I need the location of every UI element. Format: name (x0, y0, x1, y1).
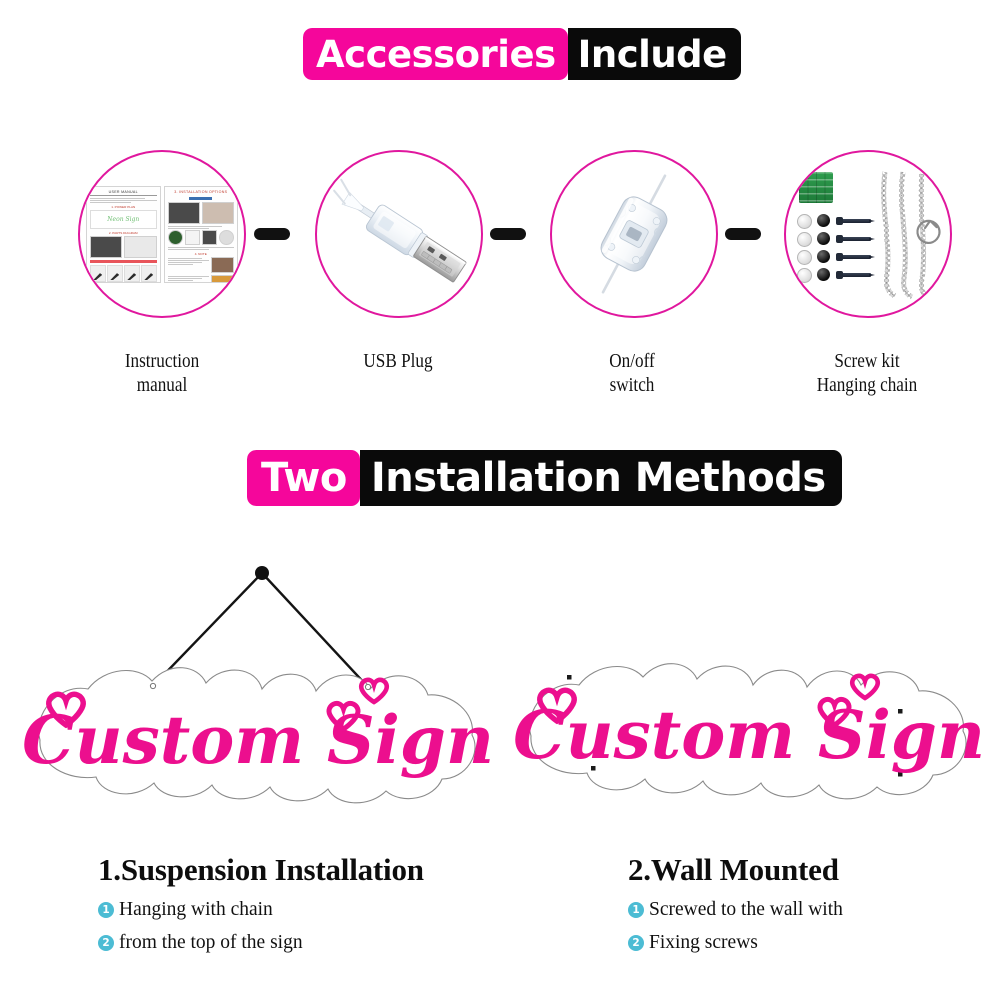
svg-text:Custom Sign: Custom Sign (22, 701, 494, 779)
instruction-bullet: 1 Screwed to the wall with (628, 899, 843, 921)
accessories-banner: Accessories Include (303, 28, 741, 80)
bullet-text: Fixing screws (649, 932, 758, 954)
screw-kit-icon (793, 168, 943, 300)
accessory-circle-instruction-manual: USER MANUAL 1. POWER PLAN Neon Sign 2. P… (78, 150, 246, 318)
bullet-number: 2 (98, 935, 114, 951)
sign-script-text: Custom Sign (513, 696, 985, 774)
methods-banner: Two Installation Methods (247, 450, 842, 506)
manual-page1-title: USER MANUAL (90, 190, 157, 196)
manual-page-2: 3. INSTALLATION OPTIONS 4. NOTE (164, 186, 239, 283)
separator-dash-3 (725, 228, 761, 240)
instruction-title-wall-mounted: 2.Wall Mounted (628, 852, 843, 888)
sign-script-text: Custom Sign (22, 701, 494, 779)
instruction-title-suspension: 1.Suspension Installation (98, 852, 424, 888)
separator-dash-1 (254, 228, 290, 240)
accessory-circle-screw-kit (784, 150, 952, 318)
bullet-number: 1 (98, 902, 114, 918)
accessory-circle-onoff-switch (550, 150, 718, 318)
accessories-banner-highlight: Accessories (303, 28, 568, 80)
accessory-label-instruction-manual: Instruction manual (65, 350, 259, 398)
accessory-circle-usb-plug (315, 150, 483, 318)
manual-page1-section1: 1. POWER PLAN (90, 205, 157, 209)
manual-page-1: USER MANUAL 1. POWER PLAN Neon Sign 2. P… (86, 186, 161, 283)
instruction-block-suspension: 1.Suspension Installation 1 Hanging with… (98, 852, 424, 954)
infographic-canvas: Accessories Include USER MANUAL 1. POWER… (0, 0, 1000, 1000)
usb-plug-icon (315, 150, 483, 318)
manual-page2-title: 3. INSTALLATION OPTIONS (168, 190, 235, 195)
manual-page2-section: 4. NOTE (168, 252, 235, 256)
bullet-text: Hanging with chain (119, 899, 273, 921)
accessories-banner-rest: Include (568, 28, 741, 80)
wall-anchor-icon (799, 172, 833, 203)
methods-banner-highlight: Two (247, 450, 360, 506)
onoff-switch-icon (550, 150, 718, 318)
bullet-number: 2 (628, 935, 644, 951)
manual-neon-sample: Neon Sign (107, 216, 139, 223)
wall-mounted-sign: Custom Sign (505, 650, 1000, 860)
mounting-hole-top-left (567, 675, 572, 680)
manual-page1-section2: 2. PARTS DIAGRAM (90, 231, 157, 235)
instruction-bullet: 1 Hanging with chain (98, 899, 424, 921)
bullet-text: from the top of the sign (119, 932, 303, 954)
bullet-number: 1 (628, 902, 644, 918)
instruction-bullet: 2 from the top of the sign (98, 932, 424, 954)
hanging-chain-hook (255, 566, 269, 580)
accessory-label-onoff-switch: On/off switch (535, 350, 729, 398)
instruction-manual-icon: USER MANUAL 1. POWER PLAN Neon Sign 2. P… (86, 186, 238, 283)
methods-banner-rest: Installation Methods (360, 450, 842, 506)
separator-dash-2 (490, 228, 526, 240)
suspension-sign: Custom Sign (10, 555, 510, 855)
accessory-label-usb-plug: USB Plug (301, 350, 495, 374)
instruction-block-wall-mounted: 2.Wall Mounted 1 Screwed to the wall wit… (628, 852, 843, 954)
bullet-text: Screwed to the wall with (649, 899, 843, 921)
svg-text:Custom Sign: Custom Sign (513, 696, 985, 774)
accessory-label-screw-kit: Screw kit Hanging chain (770, 350, 964, 398)
chain-connector-icon (915, 216, 945, 250)
instruction-bullet: 2 Fixing screws (628, 932, 843, 954)
